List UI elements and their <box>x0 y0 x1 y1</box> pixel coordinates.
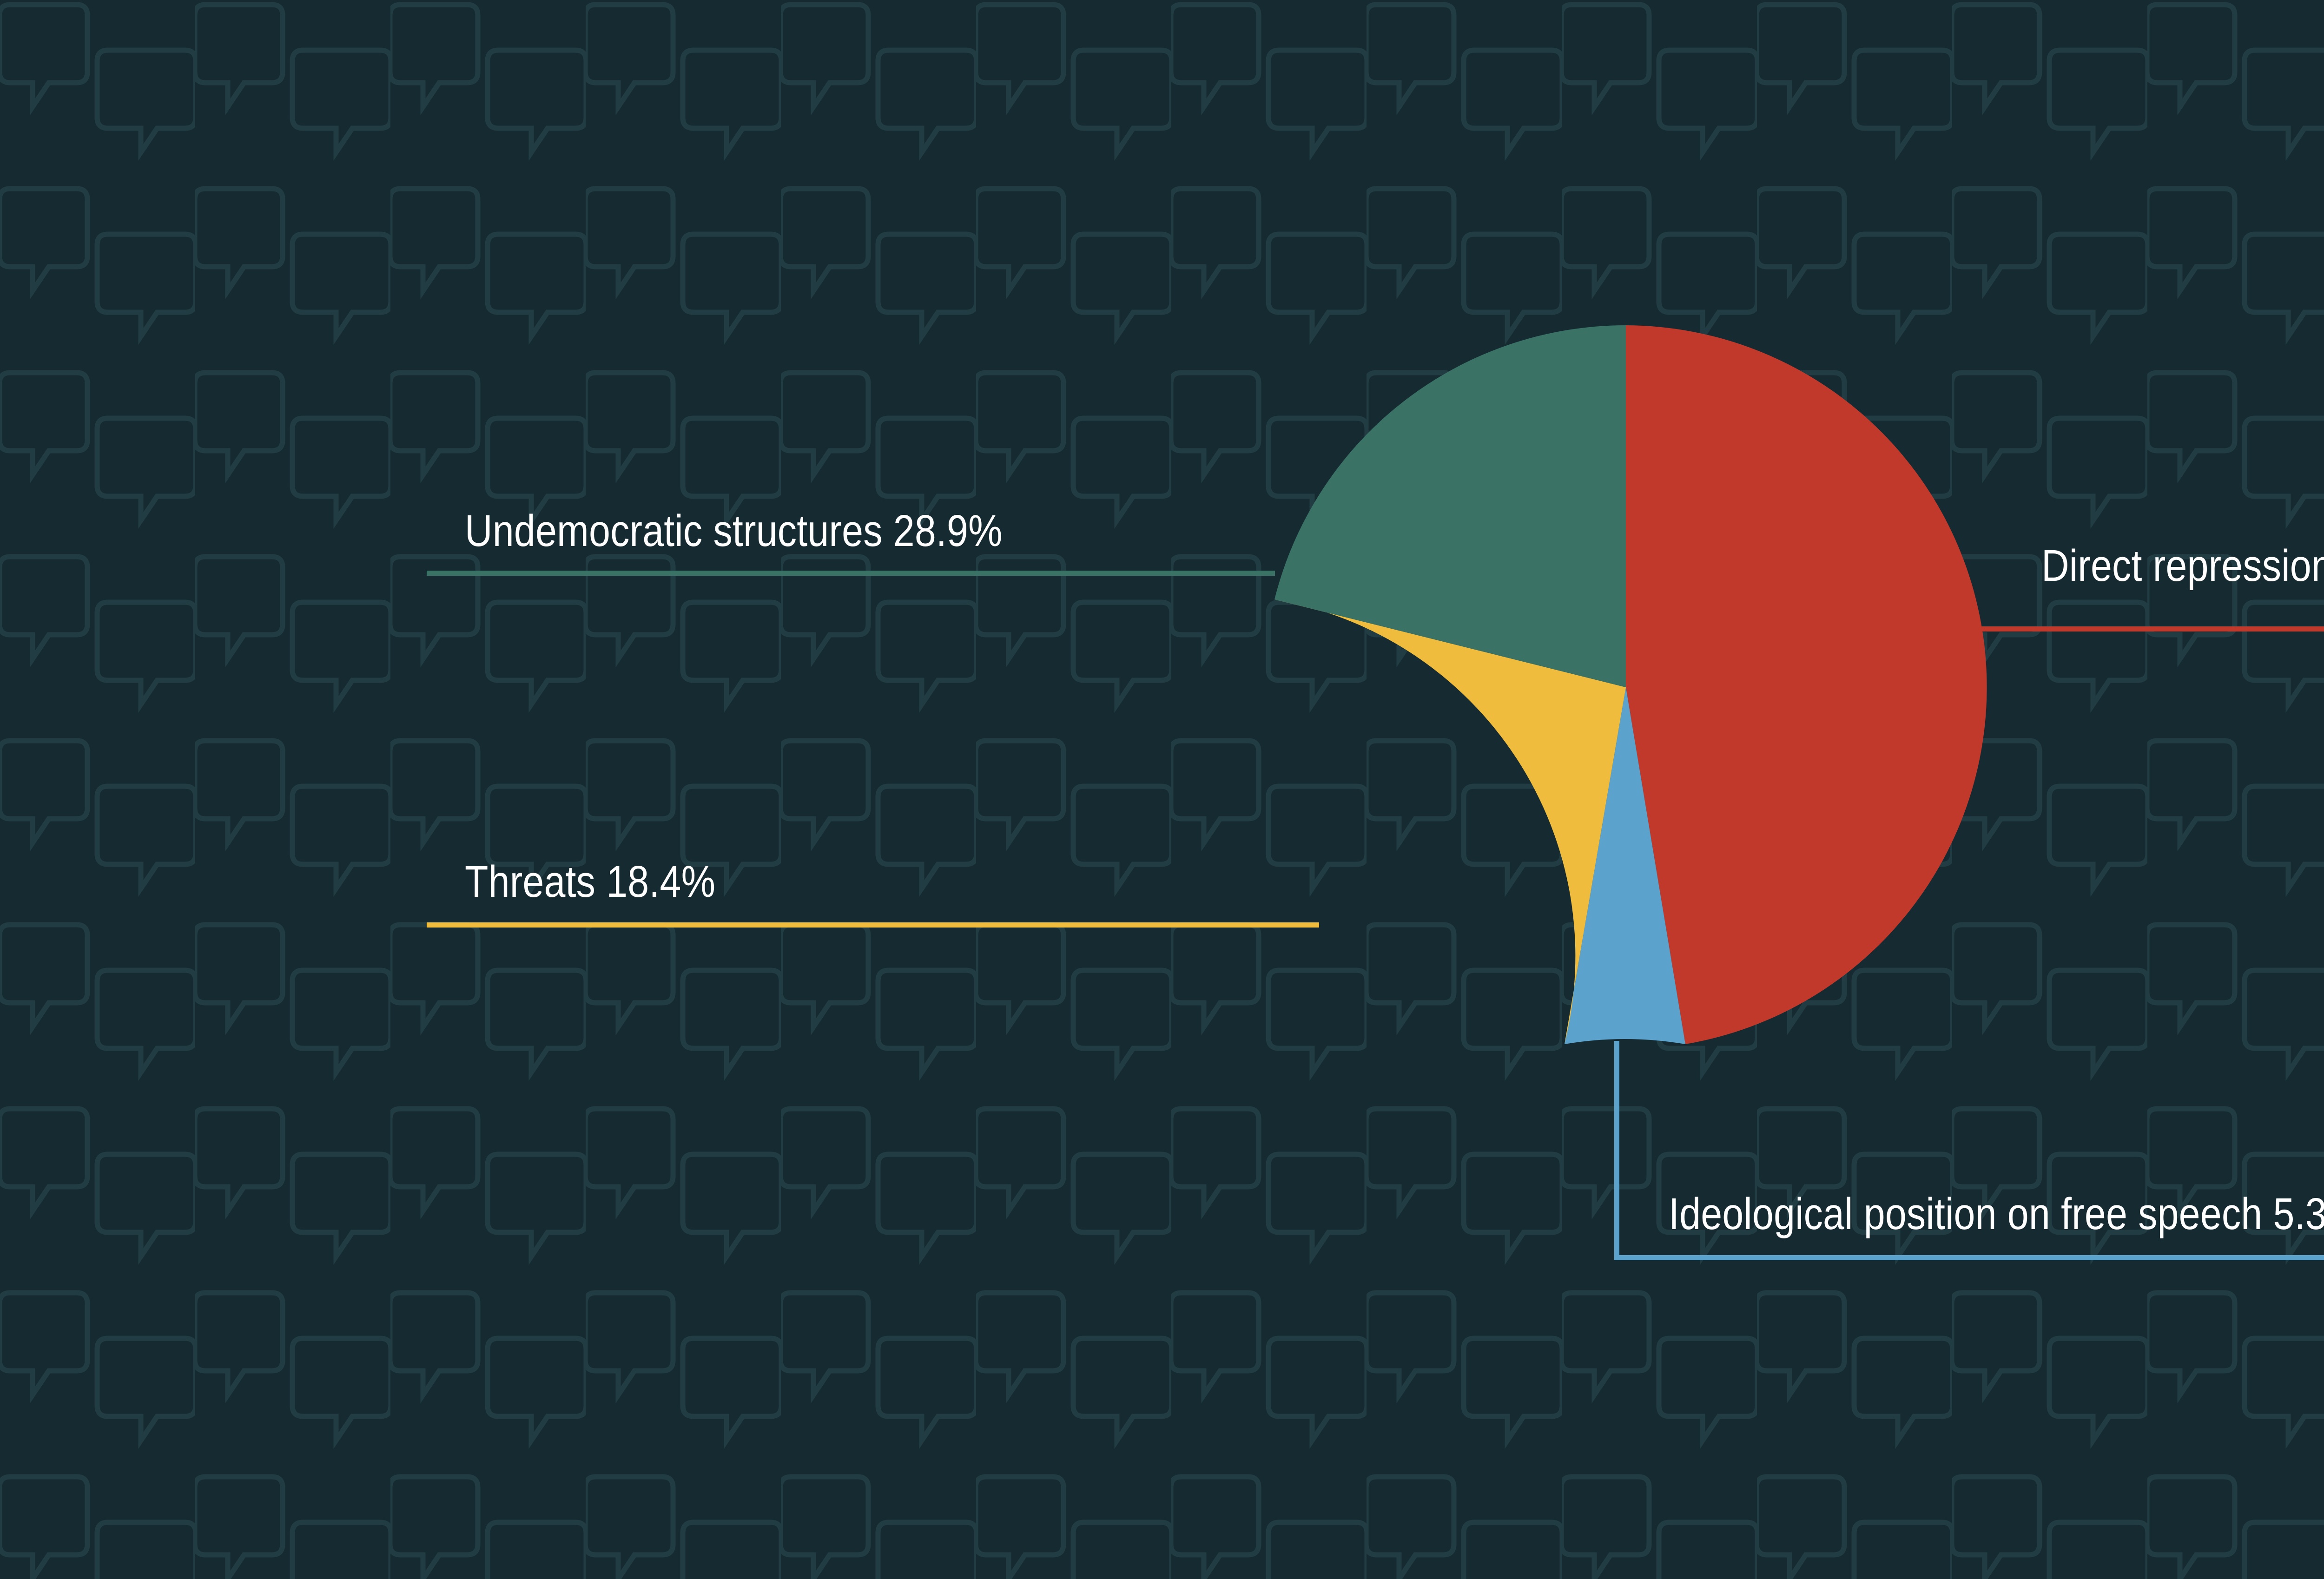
leader-line-ideological-horizontal <box>1614 1255 2324 1260</box>
pie-label-undemocratic: Undemocratic structures 28.9% <box>465 509 1003 553</box>
leader-line-undemocratic <box>427 571 1275 576</box>
pie-slice-direct-repression[interactable] <box>1626 325 1987 1044</box>
leader-line-direct-repression <box>1973 626 2324 632</box>
pie-graphic <box>0 0 2324 1579</box>
pie-chart-canvas: Undemocratic structures 28.9% Direct rep… <box>0 0 2324 1579</box>
pie-label-threats: Threats 18.4% <box>465 860 715 904</box>
pie-slice-undemocratic[interactable] <box>1274 325 1626 687</box>
speech-bubble-pattern <box>0 0 2324 1579</box>
pie-slice-ideological[interactable] <box>1565 687 1685 1044</box>
leader-line-threats <box>427 922 1319 928</box>
pie-label-ideological: Ideological position on free speech 5.3% <box>1669 1192 2324 1237</box>
pie-slice-threats[interactable] <box>1274 599 1626 1044</box>
pie-label-direct-repression: Direct repression (not assassinations) 4… <box>2041 544 2324 588</box>
leader-line-ideological-vertical <box>1614 1041 1619 1260</box>
